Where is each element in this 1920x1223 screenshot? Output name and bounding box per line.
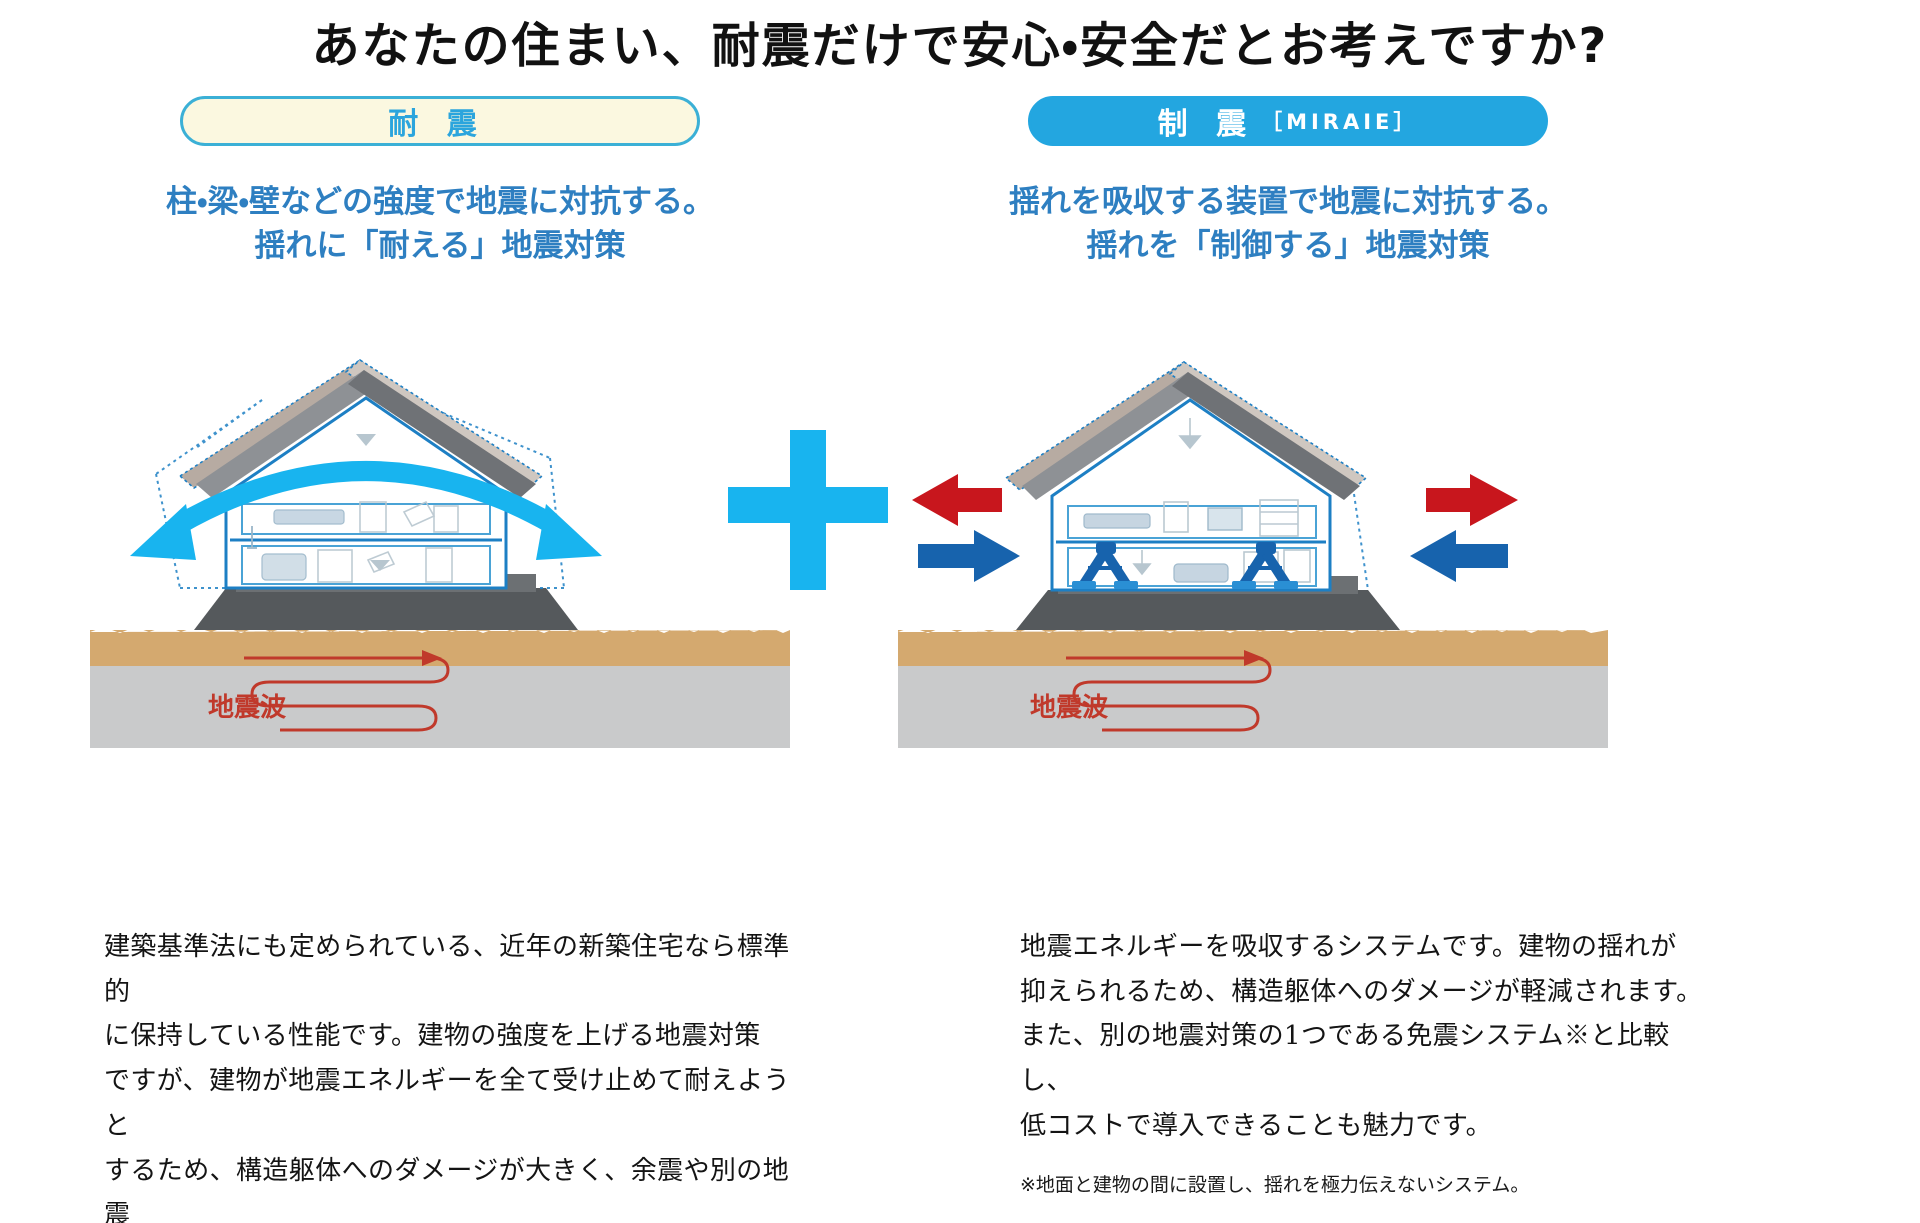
headline-taishin: 柱・梁・壁などの強度で地震に対抗する。 揺れに「耐える」地震対策 [10,180,870,268]
arrow-red-right [1426,474,1518,526]
badge-taishin-label: 耐 震 [388,99,485,143]
headline-seishin-line1: 揺れを吸収する装置で地震に対抗する。 [858,180,1718,224]
footnote-seishin: ※地面と建物の間に設置し、揺れを極力伝えないシステム。 [1020,1171,1720,1200]
arc-arrow-head-left [130,504,196,560]
seishin-house-svg: 地震波 [878,288,1698,748]
body-seishin-line4: 低コストで導入できることも魅力です。 [1020,1104,1720,1149]
body-taishin-line3: ですが、建物が地震エネルギーを全て受け止めて耐えようと [104,1059,794,1148]
column-seishin: 制 震 ［MIRAIE］ 揺れを吸収する装置で地震に対抗する。 揺れを「制御する… [858,96,1718,748]
headline-seishin-line2: 揺れを「制御する」地震対策 [858,224,1718,268]
body-seishin-line3: また、別の地震対策の1つである免震システム※と比較し、 [1020,1014,1720,1103]
badge-seishin-label: 制 震 [1158,99,1255,143]
arrow-blue-left [918,530,1020,582]
wave-label-taishin: 地震波 [208,693,287,723]
body-seishin-line2: 抑えられるため、構造躯体へのダメージが軽減されます。 [1020,970,1720,1015]
arrow-red-left [912,474,1002,526]
foundation-slab [1016,590,1400,630]
body-text-taishin: 建築基準法にも定められている、近年の新築住宅なら標準的 に保持している性能です。… [104,925,794,1223]
infographic-page: あなたの住まい、耐震だけで安心・安全だとお考えですか? 耐 震 柱・梁・壁などの… [0,0,1920,1223]
wave-label-seishin: 地震波 [1030,693,1109,723]
plus-vertical-bar [790,430,826,590]
illustration-taishin: 地震波 [30,288,850,748]
foundation-slab [194,588,578,630]
page-title: あなたの住まい、耐震だけで安心・安全だとお考えですか? [0,6,1920,76]
body-taishin-line1: 建築基準法にも定められている、近年の新築住宅なら標準的 [104,925,794,1014]
arrow-blue-right [1410,530,1508,582]
body-text-seishin: 地震エネルギーを吸収するシステムです。建物の揺れが 抑えられるため、構造躯体への… [1020,925,1720,1199]
column-taishin: 耐 震 柱・梁・壁などの強度で地震に対抗する。 揺れに「耐える」地震対策 [10,96,870,748]
badge-seishin: 制 震 ［MIRAIE］ [1028,96,1548,146]
headline-seishin: 揺れを吸収する装置で地震に対抗する。 揺れを「制御する」地震対策 [858,180,1718,268]
badge-taishin: 耐 震 [180,96,700,146]
headline-taishin-line1: 柱・梁・壁などの強度で地震に対抗する。 [10,180,870,224]
illustration-seishin: 地震波 [878,288,1698,748]
body-taishin-line2: に保持している性能です。建物の強度を上げる地震対策 [104,1014,794,1059]
body-seishin-line1: 地震エネルギーを吸収するシステムです。建物の揺れが [1020,925,1720,970]
headline-taishin-line2: 揺れに「耐える」地震対策 [10,224,870,268]
body-taishin-line4: するため、構造躯体へのダメージが大きく、余震や別の地震 [104,1149,794,1223]
badge-seishin-sub: ［MIRAIE］ [1261,106,1418,136]
taishin-house-svg: 地震波 [30,288,850,748]
arc-arrow-head-right [536,504,602,560]
